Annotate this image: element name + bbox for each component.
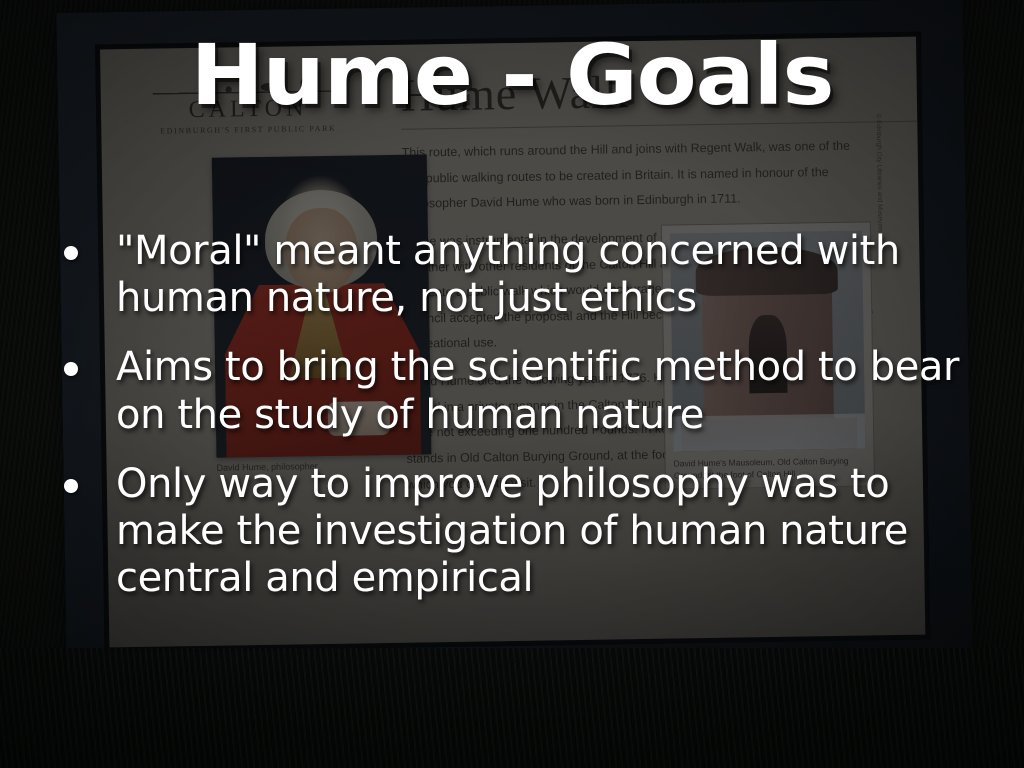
bullet-dot-icon (64, 362, 78, 376)
slide-title: Hume - Goals (0, 34, 1024, 116)
bullet-list: "Moral" meant anything concerned with hu… (48, 228, 1000, 624)
bullet-item: "Moral" meant anything concerned with hu… (48, 228, 1000, 322)
bullet-text: Only way to improve philosophy was to ma… (116, 461, 908, 601)
bullet-item: Only way to improve philosophy was to ma… (48, 461, 1000, 603)
bullet-text: "Moral" meant anything concerned with hu… (116, 228, 900, 321)
presentation-slide: CALTON EDINBURGH'S FIRST PUBLIC PARK Hum… (0, 0, 1024, 768)
bullet-text: Aims to bring the scientific method to b… (116, 344, 959, 437)
slide-content: Hume - Goals "Moral" meant anything conc… (0, 0, 1024, 768)
bullet-dot-icon (64, 479, 78, 493)
bullet-item: Aims to bring the scientific method to b… (48, 344, 1000, 438)
bullet-dot-icon (64, 246, 78, 260)
